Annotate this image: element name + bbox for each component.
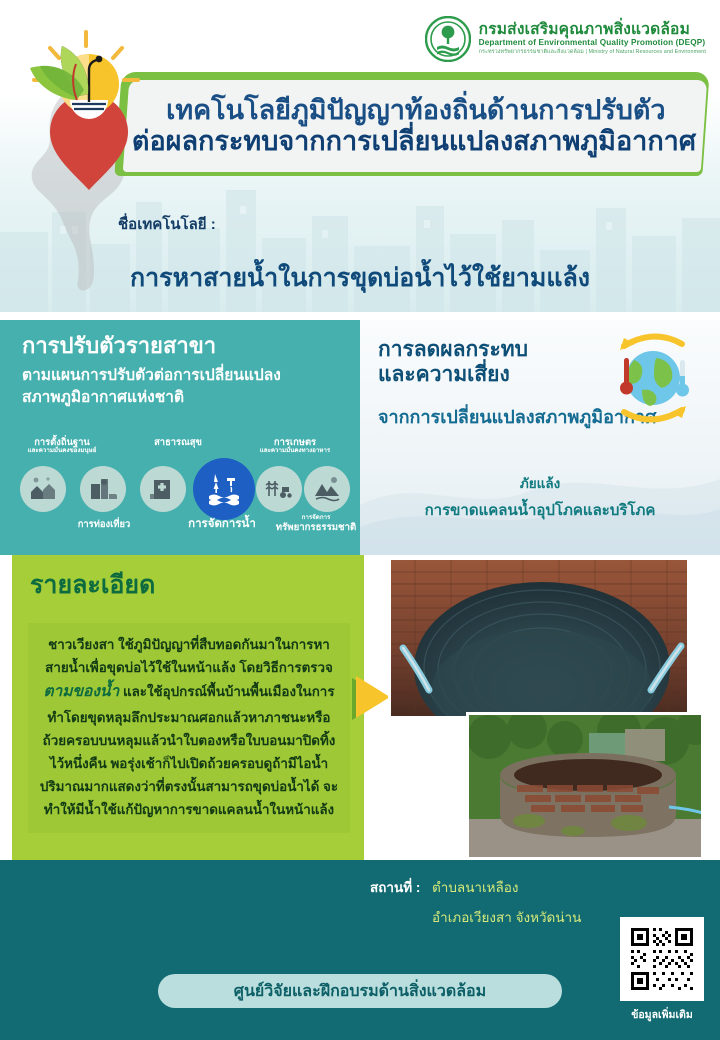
sector-panel-title: การปรับตัวรายสาขา [22,334,216,358]
details-paragraph-part2: และใช้อุปกรณ์พื้นบ้านพื้นเมืองในการทำโดย… [40,684,338,817]
tourism-city-icon [88,474,118,504]
settlement-houses-icon [28,474,58,504]
deqp-tree-water-logo-icon [425,16,471,62]
poster-root: กรมส่งเสริมคุณภาพสิ่งแวดล้อม Department … [0,0,720,1040]
details-body: ชาวเวียงสา ใช้ภูมิปัญญาที่สืบทอดกันมาในก… [28,623,350,833]
sector-label-settlement: การตั้งถิ่นฐาน [34,436,90,447]
water-management-faucet-icon [205,470,243,508]
sector-adaptation-panel: การปรับตัวรายสาขา ตามแผนการปรับตัวต่อการ… [0,320,360,555]
sector-caption-natural-resources: การจัดการ ทรัพยากรธรรมชาติ [270,514,360,534]
sector-sublabel-agriculture: และความมั่นคงทางอาหาร [240,447,350,454]
details-paragraph-highlight: ตามของน้ำ [43,683,119,700]
sector-caption-settlement: การตั้งถิ่นฐาน และความมั่นคงของมนุษย์ [10,436,114,455]
header-band: กรมส่งเสริมคุณภาพสิ่งแวดล้อม Department … [0,0,720,312]
stone-well-exterior-illustration [469,715,704,860]
lightbulb-leaf-map-pin-icon [14,28,164,218]
mitigation-title-line2: และความเสี่ยง [378,363,510,386]
sector-sublabel-natural-resources: ทรัพยากรธรรมชาติ [276,522,356,533]
sector-label-agriculture: การเกษตร [274,436,316,447]
details-title: รายละเอียด [30,565,155,605]
location-line-2: อำเภอเวียงสา จังหวัดน่าน [432,906,581,928]
details-paragraph-part1: ชาวเวียงสา ใช้ภูมิปัญญาที่สืบทอดกันมาในก… [45,637,333,675]
mitigation-risk-panel: การลดผลกระทบ และความเสี่ยง จากการเปลี่ยน… [360,320,720,555]
brick-well-water-illustration [391,560,690,719]
sector-caption-agriculture: การเกษตร และความมั่นคงทางอาหาร [240,436,350,455]
sector-icon-agriculture[interactable] [256,466,302,512]
sector-sublabel-settlement: และความมั่นคงของมนุษย์ [10,447,114,454]
location-label: สถานที่ : [370,876,420,898]
title-line-2: ต่อผลกระทบจากการเปลี่ยนแปลงสภาพภูมิอากาศ [132,126,696,157]
sector-subtitle-line1: ตามแผนการปรับตัวต่อการเปลี่ยนแปลง [22,367,281,384]
sector-icon-settlement[interactable] [20,466,66,512]
sector-icon-tourism[interactable] [80,466,126,512]
tech-name-label: ชื่อเทคโนโลยี : [118,212,216,236]
sector-label-health: สาธารณสุข [154,436,202,447]
poster-title: เทคโนโลยีภูมิปัญญาท้องถิ่นด้านการปรับตัว… [123,80,707,172]
center-name-pill[interactable]: ศูนย์วิจัยและฝึกอบรมด้านสิ่งแวดล้อม [158,974,562,1008]
sector-caption-health: สาธารณสุข [126,436,230,447]
location-line-1: ตำบลนาเหลือง [432,876,518,898]
qr-caption: ข้อมูลเพิ่มเติม [608,1006,716,1023]
org-name-en: Department of Environmental Quality Prom… [479,39,706,48]
public-health-hospital-icon [148,474,178,504]
mitigation-panel-title: การลดผลกระทบ และความเสี่ยง [378,338,528,388]
qr-code-icon [627,924,697,994]
hazard-detail: การขาดแคลนน้ำอุปโภคและบริโภค [360,498,720,522]
stone-well-exterior-photo [466,712,704,860]
hazard-name: ภัยแล้ง [360,472,720,494]
hills-decoration [360,435,720,555]
qr-code-box[interactable] [620,917,704,1001]
center-name-label: ศูนย์วิจัยและฝึกอบรมด้านสิ่งแวดล้อม [234,979,486,1004]
sector-subtitle-line2: สภาพภูมิอากาศแห่งชาติ [22,389,184,406]
mitigation-title-line1: การลดผลกระทบ [378,338,528,361]
sector-icon-natural-resources[interactable] [304,466,350,512]
agriculture-tractor-icon [264,474,294,504]
sector-caption-water: การจัดการน้ำ [170,518,274,532]
sector-label-water: การจัดการน้ำ [188,518,256,530]
sector-panel-subtitle: ตามแผนการปรับตัวต่อการเปลี่ยนแปลง สภาพภู… [22,365,342,409]
org-name-th: กรมส่งเสริมคุณภาพสิ่งแวดล้อม [479,22,706,38]
sector-icon-water-management[interactable] [196,461,252,517]
sector-icon-public-health[interactable] [140,466,186,512]
natural-resources-mountain-icon [312,474,342,504]
arrow-right-triangle-icon [348,672,390,726]
sector-icon-row: การตั้งถิ่นฐาน และความมั่นคงของมนุษย์ สา… [8,448,354,548]
org-ministry: กระทรวงทรัพยากรธรรมชาติและสิ่งแวดล้อม | … [479,50,706,56]
brick-well-water-photo [388,557,690,719]
title-line-1: เทคโนโลยีภูมิปัญญาท้องถิ่นด้านการปรับตัว [166,95,665,126]
tech-name-value: การหาสายน้ำในการขุดบ่อน้ำไว้ใช้ยามแล้ง [0,258,720,298]
deqp-logo: กรมส่งเสริมคุณภาพสิ่งแวดล้อม Department … [425,16,706,62]
sector-label-natural-resources: การจัดการ [270,514,360,521]
globe-thermometer-climate-icon [598,328,708,428]
sector-caption-tourism: การท่องเที่ยว [52,518,156,529]
sector-label-tourism: การท่องเที่ยว [78,518,131,529]
